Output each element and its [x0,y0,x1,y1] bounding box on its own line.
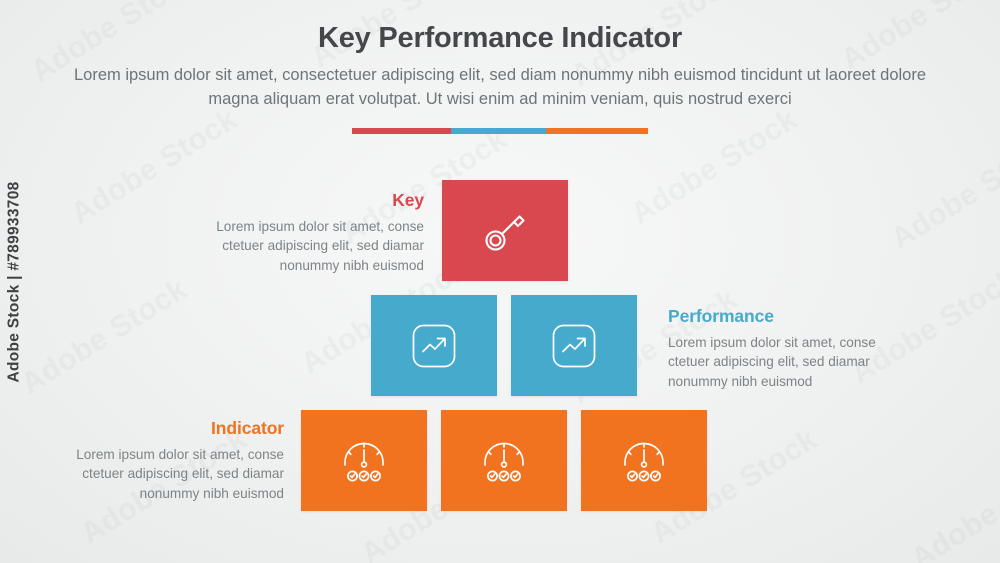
section-key: Key Lorem ipsum dolor sit amet, conse ct… [176,190,424,275]
gauge-check-icon [618,438,670,484]
divider-segment-performance [451,128,546,134]
section-indicator-body: Lorem ipsum dolor sit amet, conse ctetue… [36,445,284,503]
color-divider [352,128,648,134]
stock-credit-text: Adobe Stock | #789933708 [6,181,24,382]
watermark-tile: Adobe Stock [885,128,1000,257]
key-icon [478,204,532,258]
divider-segment-key [352,128,451,134]
infographic-canvas: Adobe Stock Adobe Stock Adobe Stock Adob… [0,0,1000,563]
tile-performance-2[interactable] [511,295,637,396]
section-key-body: Lorem ipsum dolor sit amet, conse ctetue… [176,217,424,275]
section-indicator-heading: Indicator [36,418,284,439]
tile-indicator-3[interactable] [581,410,707,511]
trending-up-icon [552,324,596,368]
page-subtitle: Lorem ipsum dolor sit amet, consectetuer… [60,64,940,111]
header: Key Performance Indicator Lorem ipsum do… [0,22,1000,111]
watermark-tile: Adobe Stock [625,103,803,232]
gauge-check-icon [338,438,390,484]
section-performance-heading: Performance [668,306,920,327]
trending-up-icon [412,324,456,368]
page-title: Key Performance Indicator [0,22,1000,55]
tile-performance-1[interactable] [371,295,497,396]
section-indicator: Indicator Lorem ipsum dolor sit amet, co… [36,418,284,503]
watermark-tile: Adobe Stock [905,448,1000,563]
divider-segment-indicator [546,128,648,134]
gauge-check-icon [478,438,530,484]
watermark-tile: Adobe Stock [15,273,193,402]
tile-indicator-1[interactable] [301,410,427,511]
section-key-heading: Key [176,190,424,211]
tile-key-1[interactable] [442,180,568,281]
section-performance-body: Lorem ipsum dolor sit amet, conse ctetue… [668,333,920,391]
section-performance: Performance Lorem ipsum dolor sit amet, … [668,306,920,391]
tile-indicator-2[interactable] [441,410,567,511]
